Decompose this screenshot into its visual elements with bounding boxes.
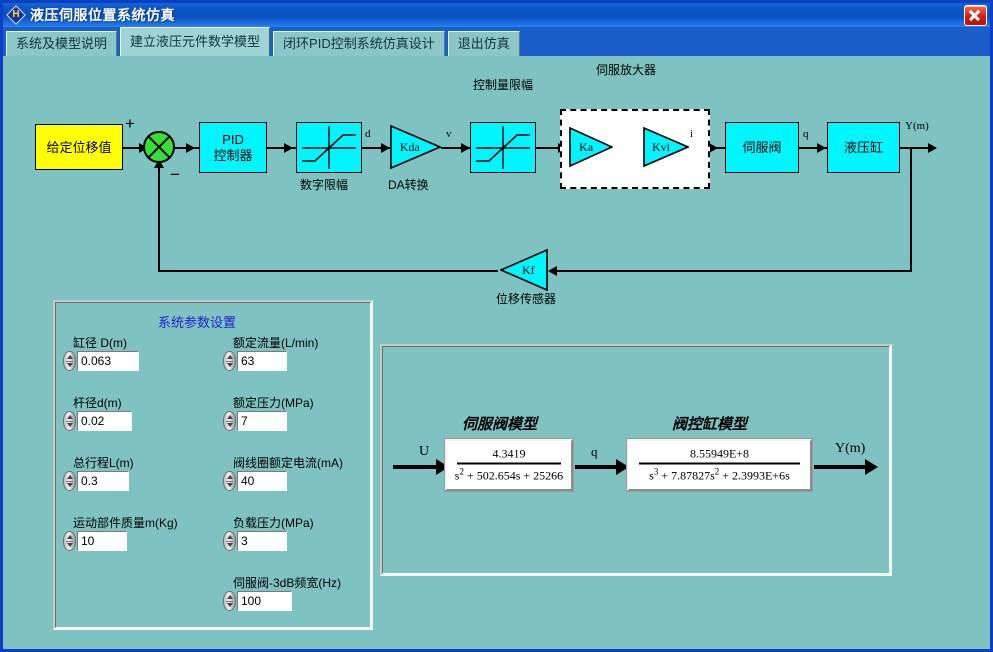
model-input-label: U	[419, 444, 429, 460]
block-pid-controller[interactable]: PID 控制器	[199, 122, 267, 173]
field-servo-valve-bandwidth-label: 伺服阀-3dB频宽(Hz)	[233, 574, 341, 591]
wire-model-input	[393, 465, 441, 469]
parameter-panel-title: 系统参数设置	[158, 312, 236, 331]
field-rated-flow-label: 额定流量(L/min)	[233, 334, 318, 351]
field-rod-diameter-label: 杆径d(m)	[73, 394, 122, 411]
valve-cylinder-denominator: s3 + 7.87827s2 + 2.3993E+6s	[629, 465, 810, 484]
wire-feedback-right-seg	[556, 270, 912, 272]
servo-valve-model-title: 伺服阀模型	[462, 413, 537, 434]
wire-model-output	[814, 465, 872, 469]
caption-servo-amplifier: 伺服放大器	[596, 61, 656, 78]
arrowhead	[381, 143, 390, 153]
block-servo-valve[interactable]: 伺服阀	[725, 122, 799, 173]
caption-da-conversion: DA转换	[388, 176, 429, 193]
field-rated-flow-stepper[interactable]	[223, 351, 236, 371]
block-pid-label: PID 控制器	[213, 132, 252, 164]
servo-valve-denominator: s2 + 502.654s + 25266	[447, 465, 571, 484]
tab-system-description[interactable]: 系统及模型说明	[6, 31, 117, 56]
field-cylinder-bore-input[interactable]	[77, 351, 139, 371]
model-mid-label: q	[591, 444, 598, 460]
signal-i-label: i	[690, 128, 693, 140]
sign-minus-label: −	[170, 169, 180, 181]
close-icon[interactable]	[964, 5, 987, 26]
model-output-label: Y(m)	[835, 441, 865, 457]
wire-feedback-left-seg	[158, 270, 498, 272]
block-da-gain[interactable]: Kda	[390, 124, 441, 170]
field-cylinder-bore-stepper[interactable]	[63, 351, 76, 371]
block-hydraulic-cylinder[interactable]: 液压缸	[827, 122, 900, 173]
arrowhead	[548, 266, 557, 276]
field-servo-valve-bandwidth-stepper[interactable]	[223, 591, 236, 611]
arrowhead	[865, 459, 878, 475]
field-rated-flow-input[interactable]	[237, 351, 287, 371]
tab-strip: 系统及模型说明 建立液压元件数学模型 闭环PID控制系统仿真设计 退出仿真	[3, 27, 990, 56]
sign-plus-label: +	[125, 118, 135, 130]
field-load-pressure-label: 负载压力(MPa)	[233, 514, 314, 531]
field-moving-mass-input[interactable]	[77, 531, 127, 551]
tab-build-model[interactable]: 建立液压元件数学模型	[120, 27, 270, 56]
field-total-stroke-stepper[interactable]	[63, 471, 76, 491]
signal-d-label: d	[365, 128, 371, 140]
app-diamond-icon: H	[8, 7, 24, 23]
valve-cylinder-model-title: 阀控缸模型	[672, 413, 747, 434]
field-total-stroke-input[interactable]	[77, 471, 129, 491]
field-moving-mass-stepper[interactable]	[63, 531, 76, 551]
field-valve-coil-current-input[interactable]	[237, 471, 287, 491]
block-ka-gain-label: Ka	[569, 126, 613, 168]
field-rated-pressure-label: 额定压力(MPa)	[233, 394, 314, 411]
arrowhead	[186, 143, 195, 153]
field-rated-pressure-input[interactable]	[237, 411, 287, 431]
servo-valve-numerator: 4.3419	[447, 447, 571, 463]
arrowhead	[284, 143, 293, 153]
valve-cylinder-numerator: 8.55949E+8	[629, 447, 810, 463]
field-servo-valve-bandwidth-input[interactable]	[237, 591, 292, 611]
arrowhead	[709, 143, 718, 153]
block-digital-limiter[interactable]	[296, 122, 362, 173]
field-valve-coil-current-label: 阀线圈额定电流(mA)	[233, 454, 343, 471]
block-kvi-gain[interactable]: Kvi	[643, 126, 689, 168]
field-rod-diameter-input[interactable]	[77, 411, 132, 431]
signal-y-label: Y(m)	[905, 120, 929, 132]
arrowhead	[461, 143, 470, 153]
valve-cylinder-transfer-function[interactable]: 8.55949E+8 s3 + 7.87827s2 + 2.3993E+6s	[627, 439, 812, 491]
summing-junction[interactable]	[143, 131, 175, 163]
block-control-limiter[interactable]	[470, 122, 536, 173]
field-load-pressure-stepper[interactable]	[223, 531, 236, 551]
field-load-pressure-input[interactable]	[237, 531, 287, 551]
block-feedback-gain[interactable]: Kf	[500, 248, 548, 292]
field-rod-diameter-stepper[interactable]	[63, 411, 76, 431]
title-bar: H 液压伺服位置系统仿真	[3, 3, 990, 27]
caption-digital-limiter: 数字限幅	[300, 176, 348, 193]
wire-feedback-down	[910, 147, 912, 272]
application-window: H 液压伺服位置系统仿真 系统及模型说明 建立液压元件数学模型 闭环PID控制系…	[0, 0, 993, 652]
block-ka-gain[interactable]: Ka	[569, 126, 613, 168]
arrowhead	[817, 143, 826, 153]
field-total-stroke-label: 总行程L(m)	[73, 454, 134, 471]
tab-pid-simulation[interactable]: 闭环PID控制系统仿真设计	[273, 31, 445, 56]
servo-valve-transfer-function[interactable]: 4.3419 s2 + 502.654s + 25266	[445, 439, 573, 491]
window-title: 液压伺服位置系统仿真	[30, 5, 175, 25]
wire-feedback-up	[158, 166, 160, 271]
tab-exit-simulation[interactable]: 退出仿真	[448, 31, 520, 56]
field-rated-pressure-stepper[interactable]	[223, 411, 236, 431]
field-moving-mass-label: 运动部件质量m(Kg)	[73, 514, 178, 531]
arrowhead	[928, 143, 937, 153]
caption-displacement-sensor: 位移传感器	[496, 290, 556, 307]
block-kvi-gain-label: Kvi	[643, 126, 689, 168]
signal-v-label: v	[446, 128, 452, 140]
field-valve-coil-current-stepper[interactable]	[223, 471, 236, 491]
signal-q-label: q	[803, 128, 809, 140]
block-setpoint[interactable]: 给定位移值	[35, 124, 123, 170]
caption-control-limiter: 控制量限幅	[473, 76, 533, 93]
block-feedback-gain-label: Kf	[500, 248, 548, 292]
block-da-gain-label: Kda	[390, 124, 441, 170]
field-cylinder-bore-label: 缸径 D(m)	[73, 334, 127, 351]
diagram-canvas: 给定位移值 + − PID 控制器 数字限幅 d Kda DA转换 v	[3, 56, 990, 649]
